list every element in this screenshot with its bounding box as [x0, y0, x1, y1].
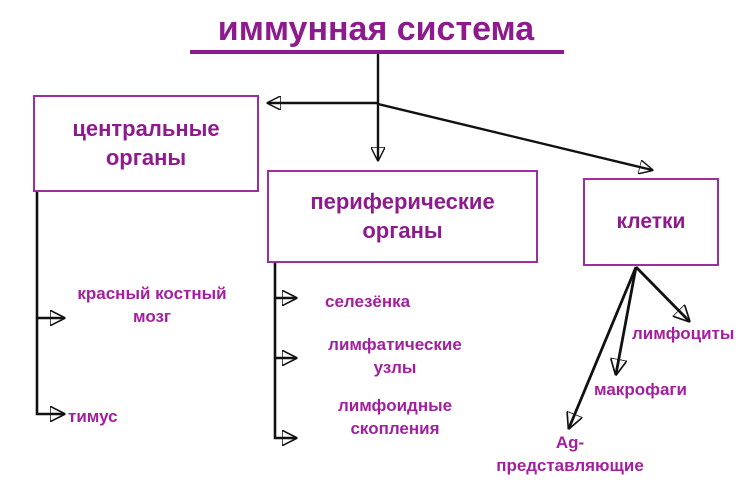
edge-title-to-cells: [378, 104, 652, 170]
leaf-lymphocytes: лимфоциты: [632, 323, 734, 346]
leaf-spleen: селезёнка: [325, 291, 410, 314]
edge-cells-fan: [569, 267, 689, 428]
leaf-ag-presenting: Ag- представляющие: [474, 432, 666, 478]
leaf-lymphoid-clusters: лимфоидные скопления: [300, 395, 490, 441]
page-title: иммунная система: [186, 12, 566, 48]
title-underline: [190, 50, 564, 54]
diagram-canvas: иммунная система: [0, 0, 741, 486]
edge-peripheral-subtree: [275, 263, 296, 438]
leaf-red-bone-marrow: красный костный мозг: [52, 283, 252, 329]
leaf-lymph-nodes: лимфатические узлы: [300, 334, 490, 380]
box-central-organs[interactable]: центральные органы: [33, 95, 259, 192]
leaf-macrophages: макрофаги: [594, 379, 687, 402]
leaf-thymus: тимус: [68, 406, 118, 429]
box-peripheral-organs[interactable]: периферические органы: [267, 170, 538, 263]
box-cells[interactable]: клетки: [583, 178, 719, 266]
